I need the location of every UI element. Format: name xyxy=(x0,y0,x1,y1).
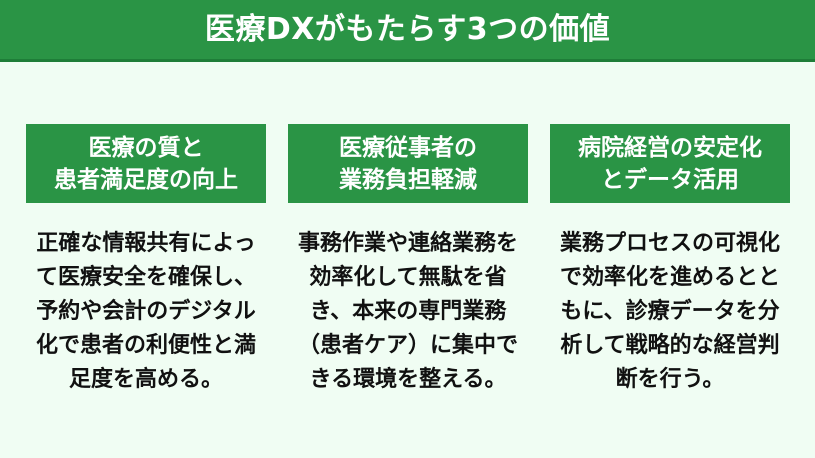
value-card-2-body: 事務作業や連絡業務を効率化して無駄を省き、本来の専門業務（患者ケア）に集中できる… xyxy=(289,227,527,397)
value-card-3-header-line-1: 病院経営の安定化 xyxy=(578,132,762,164)
value-cards-row: 医療の質と 患者満足度の向上 正確な情報共有によって医療安全を確保し、予約や会計… xyxy=(26,124,790,397)
page-title: 医療DXがもたらす3つの価値 xyxy=(205,15,610,45)
value-card-2-header-line-1: 医療従事者の xyxy=(339,132,477,164)
value-card-3: 病院経営の安定化 とデータ活用 業務プロセスの可視化で効率化を進めるとともに、診… xyxy=(550,124,790,397)
value-card-1-body: 正確な情報共有によって医療安全を確保し、予約や会計のデジタル化で患者の利便性と満… xyxy=(27,227,265,397)
value-card-3-header: 病院経営の安定化 とデータ活用 xyxy=(550,124,790,203)
value-card-1-header-line-2: 患者満足度の向上 xyxy=(54,164,238,196)
header-banner: 医療DXがもたらす3つの価値 xyxy=(0,0,815,62)
value-card-1: 医療の質と 患者満足度の向上 正確な情報共有によって医療安全を確保し、予約や会計… xyxy=(26,124,266,397)
value-card-2-header-line-2: 業務負担軽減 xyxy=(339,164,477,196)
value-card-3-body: 業務プロセスの可視化で効率化を進めるとともに、診療データを分析して戦略的な経営判… xyxy=(551,227,789,397)
value-card-1-header: 医療の質と 患者満足度の向上 xyxy=(26,124,266,203)
value-card-2: 医療従事者の 業務負担軽減 事務作業や連絡業務を効率化して無駄を省き、本来の専門… xyxy=(288,124,528,397)
infographic-page: 医療DXがもたらす3つの価値 医療の質と 患者満足度の向上 正確な情報共有によっ… xyxy=(0,0,815,458)
value-card-1-header-line-1: 医療の質と xyxy=(89,132,204,164)
value-card-3-header-line-2: とデータ活用 xyxy=(601,164,739,196)
value-card-2-header: 医療従事者の 業務負担軽減 xyxy=(288,124,528,203)
